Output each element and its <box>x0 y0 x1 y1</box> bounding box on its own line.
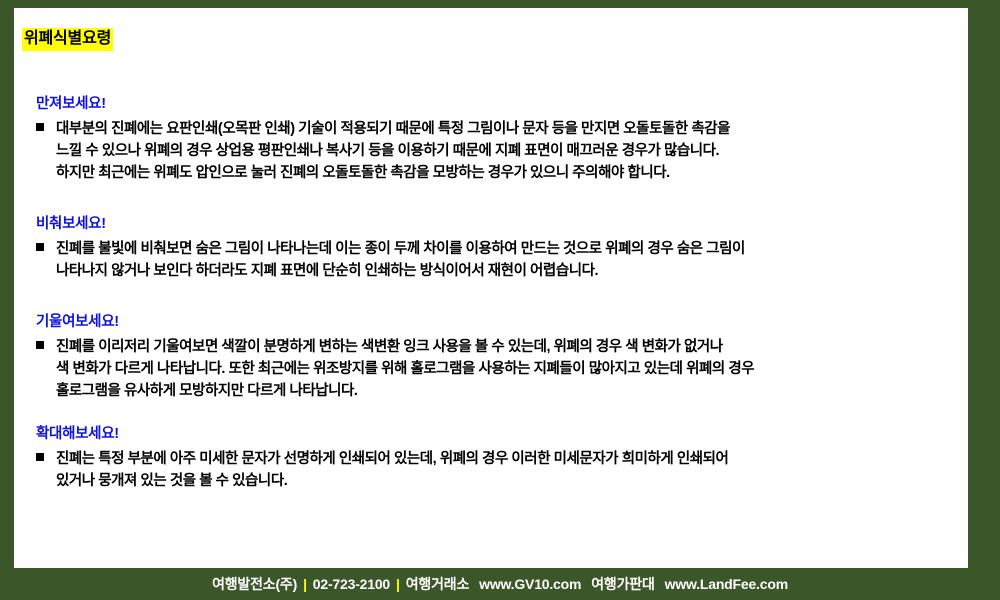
section-magnify: 확대해보세요! 진폐는 특정 부분에 아주 미세한 문자가 선명하게 인쇄되어 … <box>36 424 966 492</box>
page-frame: 위폐식별요령 만져보세요! 대부분의 진폐에는 요판인쇄(오목판 인쇄) 기술이… <box>0 0 1000 600</box>
paragraph-line: 하지만 최근에는 위폐도 압인으로 눌러 진폐의 오돌토돌한 촉감을 모방하는 … <box>56 162 966 184</box>
paragraph-line: 진폐를 이리저리 기울여보면 색깔이 분명하게 변하는 색변환 잉크 사용을 볼… <box>56 336 966 358</box>
section-heading: 기울여보세요! <box>36 312 966 332</box>
footer-site2-url[interactable]: www.LandFee.com <box>665 576 788 592</box>
square-bullet-icon <box>36 243 44 251</box>
section-backlight: 비춰보세요! 진폐를 불빛에 비춰보면 숨은 그림이 나타나는데 이는 종이 두… <box>36 214 966 282</box>
paragraph-line: 진폐를 불빛에 비춰보면 숨은 그림이 나타나는데 이는 종이 두께 차이를 이… <box>56 238 966 260</box>
paragraph-line: 대부분의 진폐에는 요판인쇄(오목판 인쇄) 기술이 적용되기 때문에 특정 그… <box>56 118 966 140</box>
section-heading: 만져보세요! <box>36 94 966 114</box>
footer-company: 여행발전소(주) <box>212 576 297 592</box>
square-bullet-icon <box>36 341 44 349</box>
paragraph-line: 진폐는 특정 부분에 아주 미세한 문자가 선명하게 인쇄되어 있는데, 위폐의… <box>56 448 966 470</box>
footer-bar: 여행발전소(주)|02-723-2100|여행거래소www.GV10.com여행… <box>0 568 1000 600</box>
page-title: 위폐식별요령 <box>22 28 113 51</box>
paragraph-line: 색 변화가 다르게 나타납니다. 또한 최근에는 위조방지를 위해 홀로그램을 … <box>56 358 966 380</box>
bullet-block: 진폐는 특정 부분에 아주 미세한 문자가 선명하게 인쇄되어 있는데, 위폐의… <box>36 448 966 492</box>
paragraph-line: 홀로그램을 유사하게 모방하지만 다르게 나타납니다. <box>56 380 966 402</box>
footer-separator-2: | <box>396 576 400 592</box>
bullet-block: 대부분의 진폐에는 요판인쇄(오목판 인쇄) 기술이 적용되기 때문에 특정 그… <box>36 118 966 184</box>
footer-site1-label: 여행거래소 <box>406 576 469 592</box>
section-tilt: 기울여보세요! 진폐를 이리저리 기울여보면 색깔이 분명하게 변하는 색변환 … <box>36 312 966 402</box>
paragraph-line: 있거나 뭉개져 있는 것을 볼 수 있습니다. <box>56 470 966 492</box>
section-touch: 만져보세요! 대부분의 진폐에는 요판인쇄(오목판 인쇄) 기술이 적용되기 때… <box>36 94 966 184</box>
footer-site2-label: 여행가판대 <box>591 576 654 592</box>
bullet-block: 진폐를 이리저리 기울여보면 색깔이 분명하게 변하는 색변환 잉크 사용을 볼… <box>36 336 966 402</box>
footer-site1-url[interactable]: www.GV10.com <box>479 576 581 592</box>
footer-contact-line: 여행발전소(주)|02-723-2100|여행거래소www.GV10.com여행… <box>212 574 788 594</box>
square-bullet-icon <box>36 453 44 461</box>
footer-separator-1: | <box>303 576 307 592</box>
paragraph-line: 느낄 수 있으나 위폐의 경우 상업용 평판인쇄나 복사기 등을 이용하기 때문… <box>56 140 966 162</box>
paragraph-line: 나타나지 않거나 보인다 하더라도 지폐 표면에 단순히 인쇄하는 방식이어서 … <box>56 260 966 282</box>
section-heading: 확대해보세요! <box>36 424 966 444</box>
bullet-block: 진폐를 불빛에 비춰보면 숨은 그림이 나타나는데 이는 종이 두께 차이를 이… <box>36 238 966 282</box>
section-heading: 비춰보세요! <box>36 214 966 234</box>
document-sheet: 위폐식별요령 만져보세요! 대부분의 진폐에는 요판인쇄(오목판 인쇄) 기술이… <box>14 8 968 568</box>
footer-phone: 02-723-2100 <box>313 576 390 592</box>
square-bullet-icon <box>36 123 44 131</box>
